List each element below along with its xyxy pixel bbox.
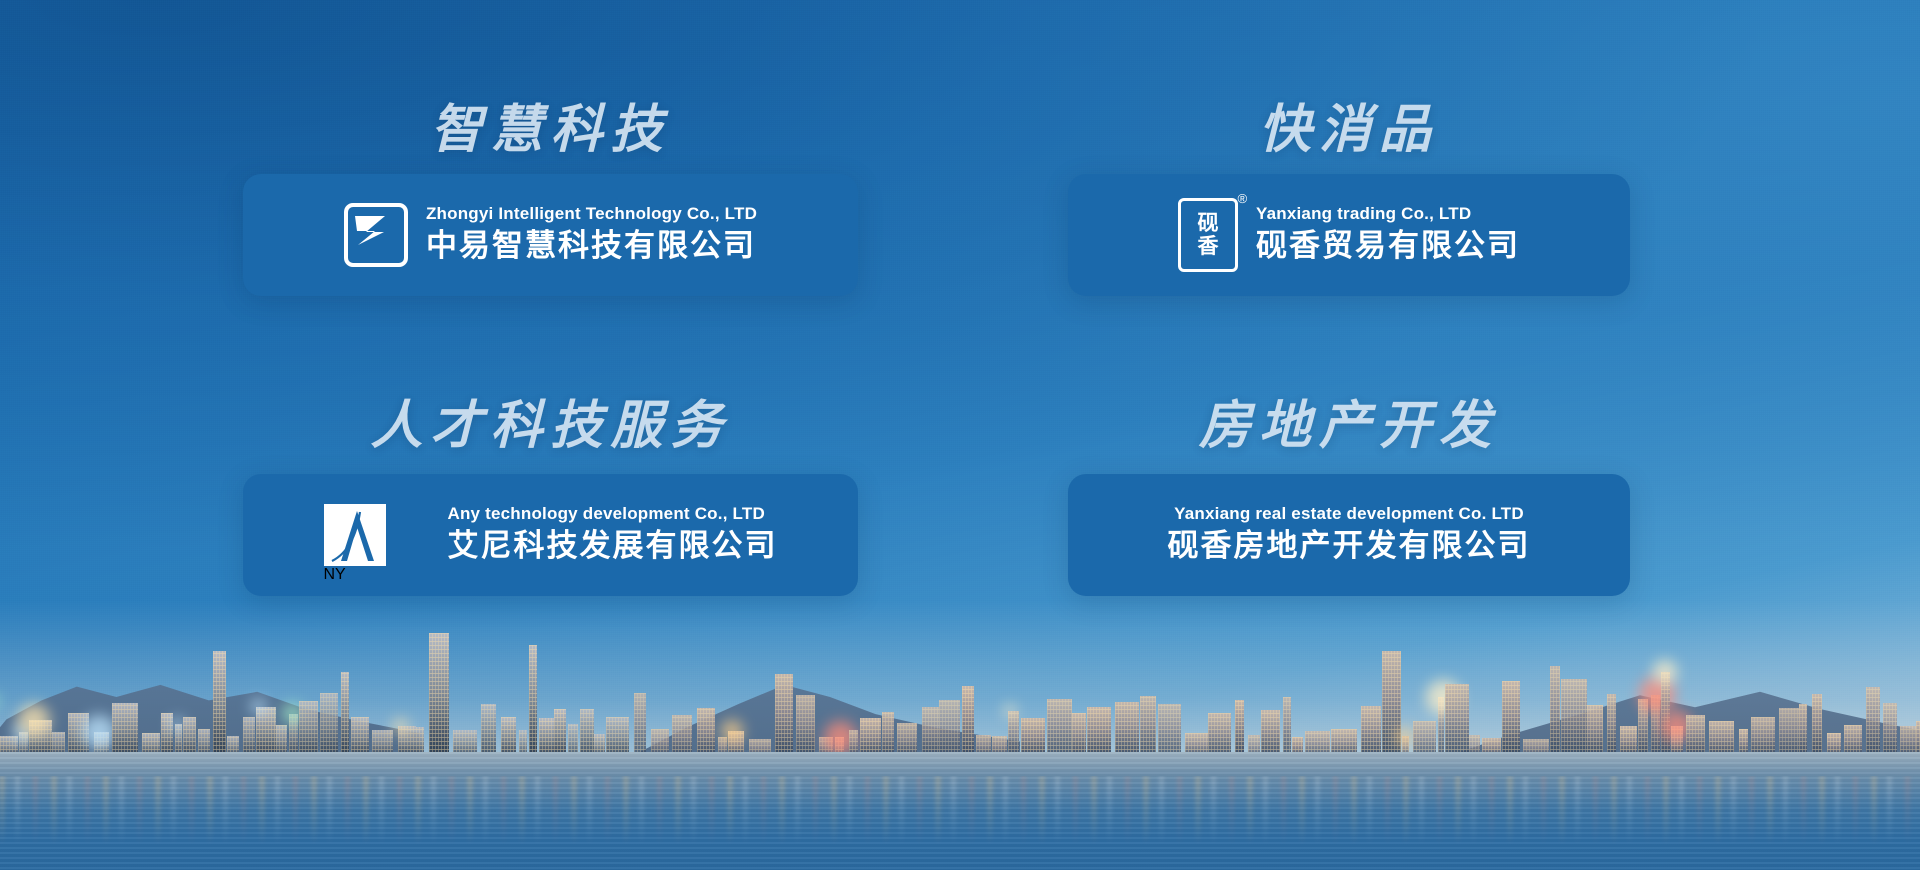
building — [1261, 710, 1280, 758]
building — [1799, 704, 1807, 758]
segment-heading-fmcg: 快消品 — [1068, 104, 1630, 156]
company-name-cn: 艾尼科技发展有限公司 — [448, 526, 778, 566]
building — [320, 693, 338, 758]
building — [1866, 687, 1880, 758]
building — [481, 704, 496, 758]
segment-heading-smart-technology: 智慧科技 — [243, 104, 858, 156]
building — [775, 674, 793, 758]
segment-block-talent-services: 人才科技服务 NY — [243, 400, 858, 596]
zhongyi-z-logo-icon — [344, 203, 408, 267]
company-name-en: Any technology development Co., LTD — [448, 503, 778, 524]
building — [697, 708, 715, 758]
building — [1047, 699, 1072, 758]
building-light-glow — [721, 720, 743, 742]
company-name-en: Yanxiang trading Co., LTD — [1256, 203, 1520, 224]
building — [429, 633, 449, 758]
skyline-buildings — [0, 628, 1920, 758]
seal-char-bottom: 香 — [1198, 235, 1219, 258]
building — [1008, 711, 1019, 758]
company-name-cn: 砚香房地产开发有限公司 — [1168, 526, 1531, 566]
building — [1550, 666, 1560, 758]
building — [529, 645, 537, 758]
building — [1283, 697, 1292, 758]
company-names-yanxiang-trading: Yanxiang trading Co., LTD 砚香贸易有限公司 — [1256, 203, 1520, 267]
segment-heading-real-estate: 房地产开发 — [1068, 400, 1630, 452]
company-name-cn: 砚香贸易有限公司 — [1256, 226, 1520, 266]
company-names-any: Any technology development Co., LTD 艾尼科技… — [448, 503, 778, 567]
segment-block-real-estate: 房地产开发 Yanxiang real estate development C… — [1068, 400, 1630, 596]
building — [634, 693, 646, 758]
company-name-en: Yanxiang real estate development Co. LTD — [1174, 503, 1524, 524]
building — [796, 695, 814, 758]
yanxiang-seal-logo-icon: 砚 香 ® — [1178, 198, 1238, 272]
building — [922, 707, 939, 758]
seal-char-top: 砚 — [1198, 212, 1219, 235]
any-peak-logo-icon: NY — [324, 504, 422, 566]
building — [1235, 700, 1243, 759]
building — [1883, 703, 1897, 758]
building — [962, 686, 974, 758]
segment-block-smart-technology: 智慧科技 Zhongyi Intelligent Technology Co.,… — [243, 104, 858, 296]
company-name-cn: 中易智慧科技有限公司 — [426, 226, 757, 266]
registered-mark-icon: ® — [1237, 191, 1247, 206]
building-light-glow — [171, 718, 184, 731]
company-name-en: Zhongyi Intelligent Technology Co., LTD — [426, 203, 757, 224]
company-card-yanxiang-real-estate[interactable]: Yanxiang real estate development Co. LTD… — [1068, 474, 1630, 596]
company-names-zhongyi: Zhongyi Intelligent Technology Co., LTD … — [426, 203, 757, 267]
company-names-yanxiang-real-estate: Yanxiang real estate development Co. LTD… — [1168, 503, 1531, 567]
building — [1115, 702, 1139, 758]
company-card-zhongyi[interactable]: Zhongyi Intelligent Technology Co., LTD … — [243, 174, 858, 296]
building — [1779, 708, 1799, 758]
building — [554, 709, 566, 758]
building — [299, 701, 319, 758]
building — [1140, 696, 1156, 758]
building — [1607, 694, 1617, 758]
building-light-glow — [393, 719, 408, 734]
building — [213, 651, 226, 758]
building — [1087, 707, 1111, 758]
building — [112, 703, 138, 758]
building — [1158, 704, 1181, 758]
company-card-any[interactable]: NY Any technology development Co., LTD 艾… — [243, 474, 858, 596]
cityscape-image — [0, 610, 1920, 870]
building — [580, 709, 594, 758]
building — [1361, 706, 1381, 758]
segment-heading-talent-services: 人才科技服务 — [243, 400, 858, 452]
building — [256, 707, 276, 758]
building — [1587, 705, 1603, 758]
building-light-glow — [82, 715, 116, 749]
water-surface — [0, 752, 1920, 870]
hero-banner: 智慧科技 Zhongyi Intelligent Technology Co.,… — [0, 0, 1920, 870]
company-card-yanxiang-trading[interactable]: 砚 香 ® Yanxiang trading Co., LTD 砚香贸易有限公司 — [1068, 174, 1630, 296]
building-light-glow — [18, 704, 50, 736]
building — [1502, 681, 1520, 758]
building — [341, 672, 348, 758]
any-logo-wordmark: NY — [324, 566, 422, 584]
building — [939, 700, 960, 758]
segment-block-fmcg: 快消品 砚 香 ® Yanxiang trading Co., LTD 砚香贸易… — [1068, 104, 1630, 296]
building-light-glow — [1396, 728, 1413, 745]
building — [1561, 679, 1586, 758]
building — [1445, 684, 1469, 758]
building — [1812, 694, 1823, 758]
building-light-glow — [1653, 660, 1677, 684]
water-reflections — [0, 776, 1920, 846]
